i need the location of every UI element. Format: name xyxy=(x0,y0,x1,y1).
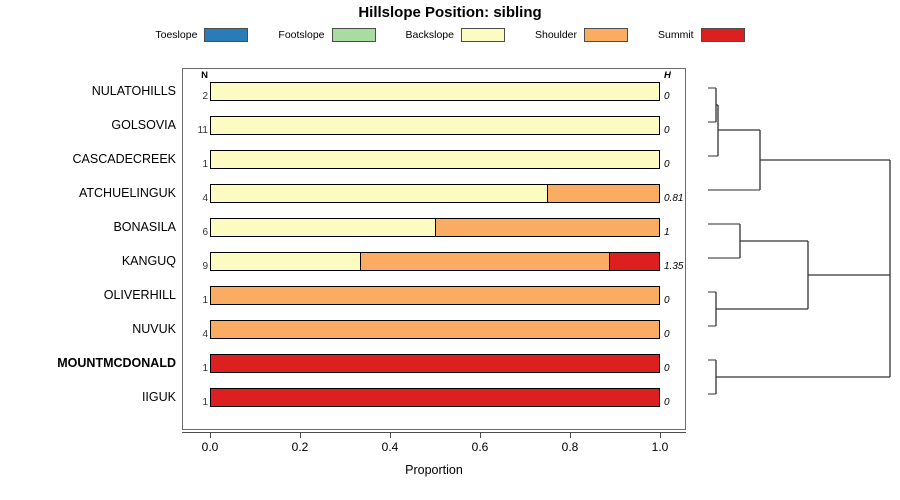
legend-label: Summit xyxy=(658,29,694,41)
row-label-iiguk: IIGUK xyxy=(0,380,176,414)
bar-segment-summit xyxy=(211,389,659,406)
legend-item-shoulder: Shoulder xyxy=(535,28,628,42)
x-tick-label: 0.2 xyxy=(275,440,325,454)
legend-swatch xyxy=(701,28,745,42)
stacked-bar xyxy=(210,218,660,237)
row-label-atchuelinguk: ATCHUELINGUK xyxy=(0,176,176,210)
legend-swatch xyxy=(461,28,505,42)
row-label-mountmcdonald: MOUNTMCDONALD xyxy=(0,346,176,380)
legend: ToeslopeFootslopeBackslopeShoulderSummit xyxy=(0,26,900,44)
x-tick xyxy=(480,432,481,438)
dendrogram xyxy=(690,60,900,440)
legend-label: Shoulder xyxy=(535,29,577,41)
stacked-bar xyxy=(210,252,660,271)
stacked-bar xyxy=(210,116,660,135)
x-tick xyxy=(210,432,211,438)
bar-segment-shoulder xyxy=(360,253,609,270)
chart-canvas: Hillslope Position: sibling ToeslopeFoot… xyxy=(0,0,900,500)
row-label-cascadecreek: CASCADECREEK xyxy=(0,142,176,176)
legend-label: Footslope xyxy=(278,29,324,41)
bar-segment-shoulder xyxy=(211,321,659,338)
x-tick xyxy=(570,432,571,438)
bar-segment-shoulder xyxy=(211,287,659,304)
bar-segment-backslope xyxy=(211,151,659,168)
bar-segment-backslope xyxy=(211,219,435,236)
row-label-nulatohills: NULATOHILLS xyxy=(0,74,176,108)
stacked-bar xyxy=(210,82,660,101)
bar-segment-backslope xyxy=(211,83,659,100)
row-n-count: 1 xyxy=(184,380,208,426)
stacked-bar xyxy=(210,320,660,339)
legend-label: Toeslope xyxy=(155,29,197,41)
bar-segment-backslope xyxy=(211,117,659,134)
legend-item-toeslope: Toeslope xyxy=(155,28,248,42)
x-tick-label: 0.6 xyxy=(455,440,505,454)
legend-item-backslope: Backslope xyxy=(406,28,505,42)
legend-swatch xyxy=(204,28,248,42)
row-label-oliverhill: OLIVERHILL xyxy=(0,278,176,312)
row-label-bonasila: BONASILA xyxy=(0,210,176,244)
row-label-golsovia: GOLSOVIA xyxy=(0,108,176,142)
x-axis-label: Proportion xyxy=(182,463,686,477)
x-tick-label: 0.8 xyxy=(545,440,595,454)
bar-segment-summit xyxy=(211,355,659,372)
bar-segment-shoulder xyxy=(547,185,659,202)
x-tick-label: 1.0 xyxy=(635,440,685,454)
stacked-bar xyxy=(210,150,660,169)
row-label-kanguq: KANGUQ xyxy=(0,244,176,278)
x-tick xyxy=(300,432,301,438)
bar-segment-shoulder xyxy=(435,219,659,236)
x-tick xyxy=(660,432,661,438)
bar-segment-summit xyxy=(609,253,659,270)
stacked-bar xyxy=(210,354,660,373)
legend-item-summit: Summit xyxy=(658,28,745,42)
bar-segment-backslope xyxy=(211,253,360,270)
stacked-bar xyxy=(210,388,660,407)
dendrogram-svg xyxy=(690,60,900,440)
x-axis-line xyxy=(182,432,686,433)
legend-swatch xyxy=(584,28,628,42)
stacked-bar xyxy=(210,184,660,203)
legend-label: Backslope xyxy=(406,29,454,41)
row-label-nuvuk: NUVUK xyxy=(0,312,176,346)
x-tick-label: 0.0 xyxy=(185,440,235,454)
x-tick xyxy=(390,432,391,438)
stacked-bar xyxy=(210,286,660,305)
legend-item-footslope: Footslope xyxy=(278,28,375,42)
legend-swatch xyxy=(332,28,376,42)
chart-title: Hillslope Position: sibling xyxy=(0,4,900,21)
x-tick-label: 0.4 xyxy=(365,440,415,454)
bar-segment-backslope xyxy=(211,185,547,202)
